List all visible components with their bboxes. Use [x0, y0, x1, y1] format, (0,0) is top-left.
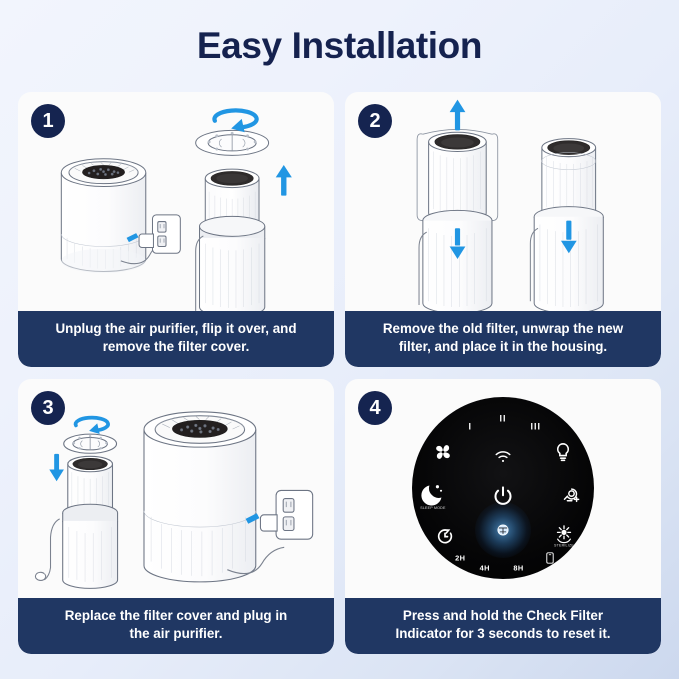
old-filter-lifting-out [417, 129, 498, 222]
light-button[interactable] [556, 442, 571, 462]
step-card-4: 4 I II III [345, 379, 661, 654]
fan-speed-1-indicator: I [468, 422, 472, 431]
housing-left [423, 210, 492, 310]
infographic-page: Easy Installation 1 [0, 0, 679, 679]
step-caption-3: Replace the filter cover and plug in the… [18, 598, 334, 654]
child-lock-icon [546, 552, 554, 564]
power-cord-3-left [35, 519, 59, 581]
step-caption-1: Unplug the air purifier, flip it over, a… [18, 311, 334, 367]
page-title: Easy Installation [197, 25, 482, 67]
light-bulb-icon [556, 442, 571, 462]
step-card-1: 1 [18, 92, 334, 367]
step-number-badge-1: 1 [31, 104, 65, 138]
air-purifier-upright-3 [144, 412, 256, 582]
uv-sterilize-icon [554, 523, 574, 543]
timer-icon [435, 526, 454, 545]
uv-sterilize-label: STERILIZE [554, 544, 574, 548]
step-card-2: 2 [345, 92, 661, 367]
control-panel-disc: I II III [412, 397, 594, 579]
fan-icon [432, 442, 453, 463]
step-caption-3-line2: the air purifier. [65, 625, 287, 643]
sleep-mode-button[interactable]: SLEEP MODE [420, 481, 445, 511]
step-illustration-4: I II III [345, 379, 661, 598]
wall-outlet-3 [276, 490, 313, 539]
step-number-badge-2: 2 [358, 104, 392, 138]
fan-speed-button[interactable] [432, 442, 453, 463]
timer-8h-indicator: 8H [513, 565, 523, 572]
air-purifier-upright [61, 159, 145, 273]
wifi-icon [495, 450, 512, 464]
step-card-3: 3 [18, 379, 334, 654]
power-button[interactable] [492, 485, 514, 507]
steps-grid: 1 [18, 92, 661, 654]
step-caption-3-line1: Replace the filter cover and plug in [65, 607, 287, 625]
filter-cover-twist-off [196, 130, 269, 155]
step-illustration-2 [345, 92, 661, 311]
ionizer-plus-icon [562, 487, 582, 505]
step-caption-2-line2: filter, and place it in the housing. [383, 338, 623, 356]
filter-icon [496, 523, 510, 537]
wifi-button[interactable] [495, 450, 512, 464]
fan-speed-3-indicator: III [530, 422, 541, 431]
step-caption-2: Remove the old filter, unwrap the new fi… [345, 311, 661, 367]
small-unit-filter [63, 456, 118, 588]
step-caption-1-line2: remove the filter cover. [55, 338, 296, 356]
power-plug-3 [260, 515, 277, 531]
up-arrow-icon [276, 165, 292, 196]
step-caption-4-line1: Press and hold the Check Filter [395, 607, 610, 625]
sleep-mode-label: SLEEP MODE [420, 507, 445, 511]
filter-cover-twist-on [64, 434, 117, 453]
step-caption-4: Press and hold the Check Filter Indicato… [345, 598, 661, 654]
child-lock-indicator[interactable] [546, 552, 554, 564]
ionizer-button[interactable] [562, 487, 582, 505]
timer-2h-indicator: 2H [455, 554, 465, 561]
step-number-badge-4: 4 [358, 391, 392, 425]
uv-sterilize-button[interactable]: STERILIZE [554, 523, 574, 548]
step-caption-1-line1: Unplug the air purifier, flip it over, a… [55, 320, 296, 338]
purifier-flipped-over [200, 169, 265, 311]
moon-icon [420, 481, 445, 506]
timer-4h-indicator: 4H [480, 565, 490, 572]
timer-button[interactable] [435, 526, 454, 545]
step-caption-4-line2: Indicator for 3 seconds to reset it. [395, 625, 610, 643]
page-header: Easy Installation [0, 0, 679, 92]
step-caption-2-line1: Remove the old filter, unwrap the new [383, 320, 623, 338]
wall-outlet [152, 215, 180, 253]
fan-speed-2-indicator: II [499, 415, 506, 424]
up-arrow-icon-left [450, 100, 466, 131]
down-arrow-icon-3 [49, 454, 64, 481]
step-illustration-3 [18, 379, 334, 598]
power-plug [139, 234, 153, 247]
step-illustration-1 [18, 92, 334, 311]
check-filter-indicator-button[interactable] [496, 523, 510, 537]
step-number-badge-3: 3 [31, 391, 65, 425]
rotate-arrow-head-3 [89, 423, 100, 434]
power-icon [492, 485, 514, 507]
